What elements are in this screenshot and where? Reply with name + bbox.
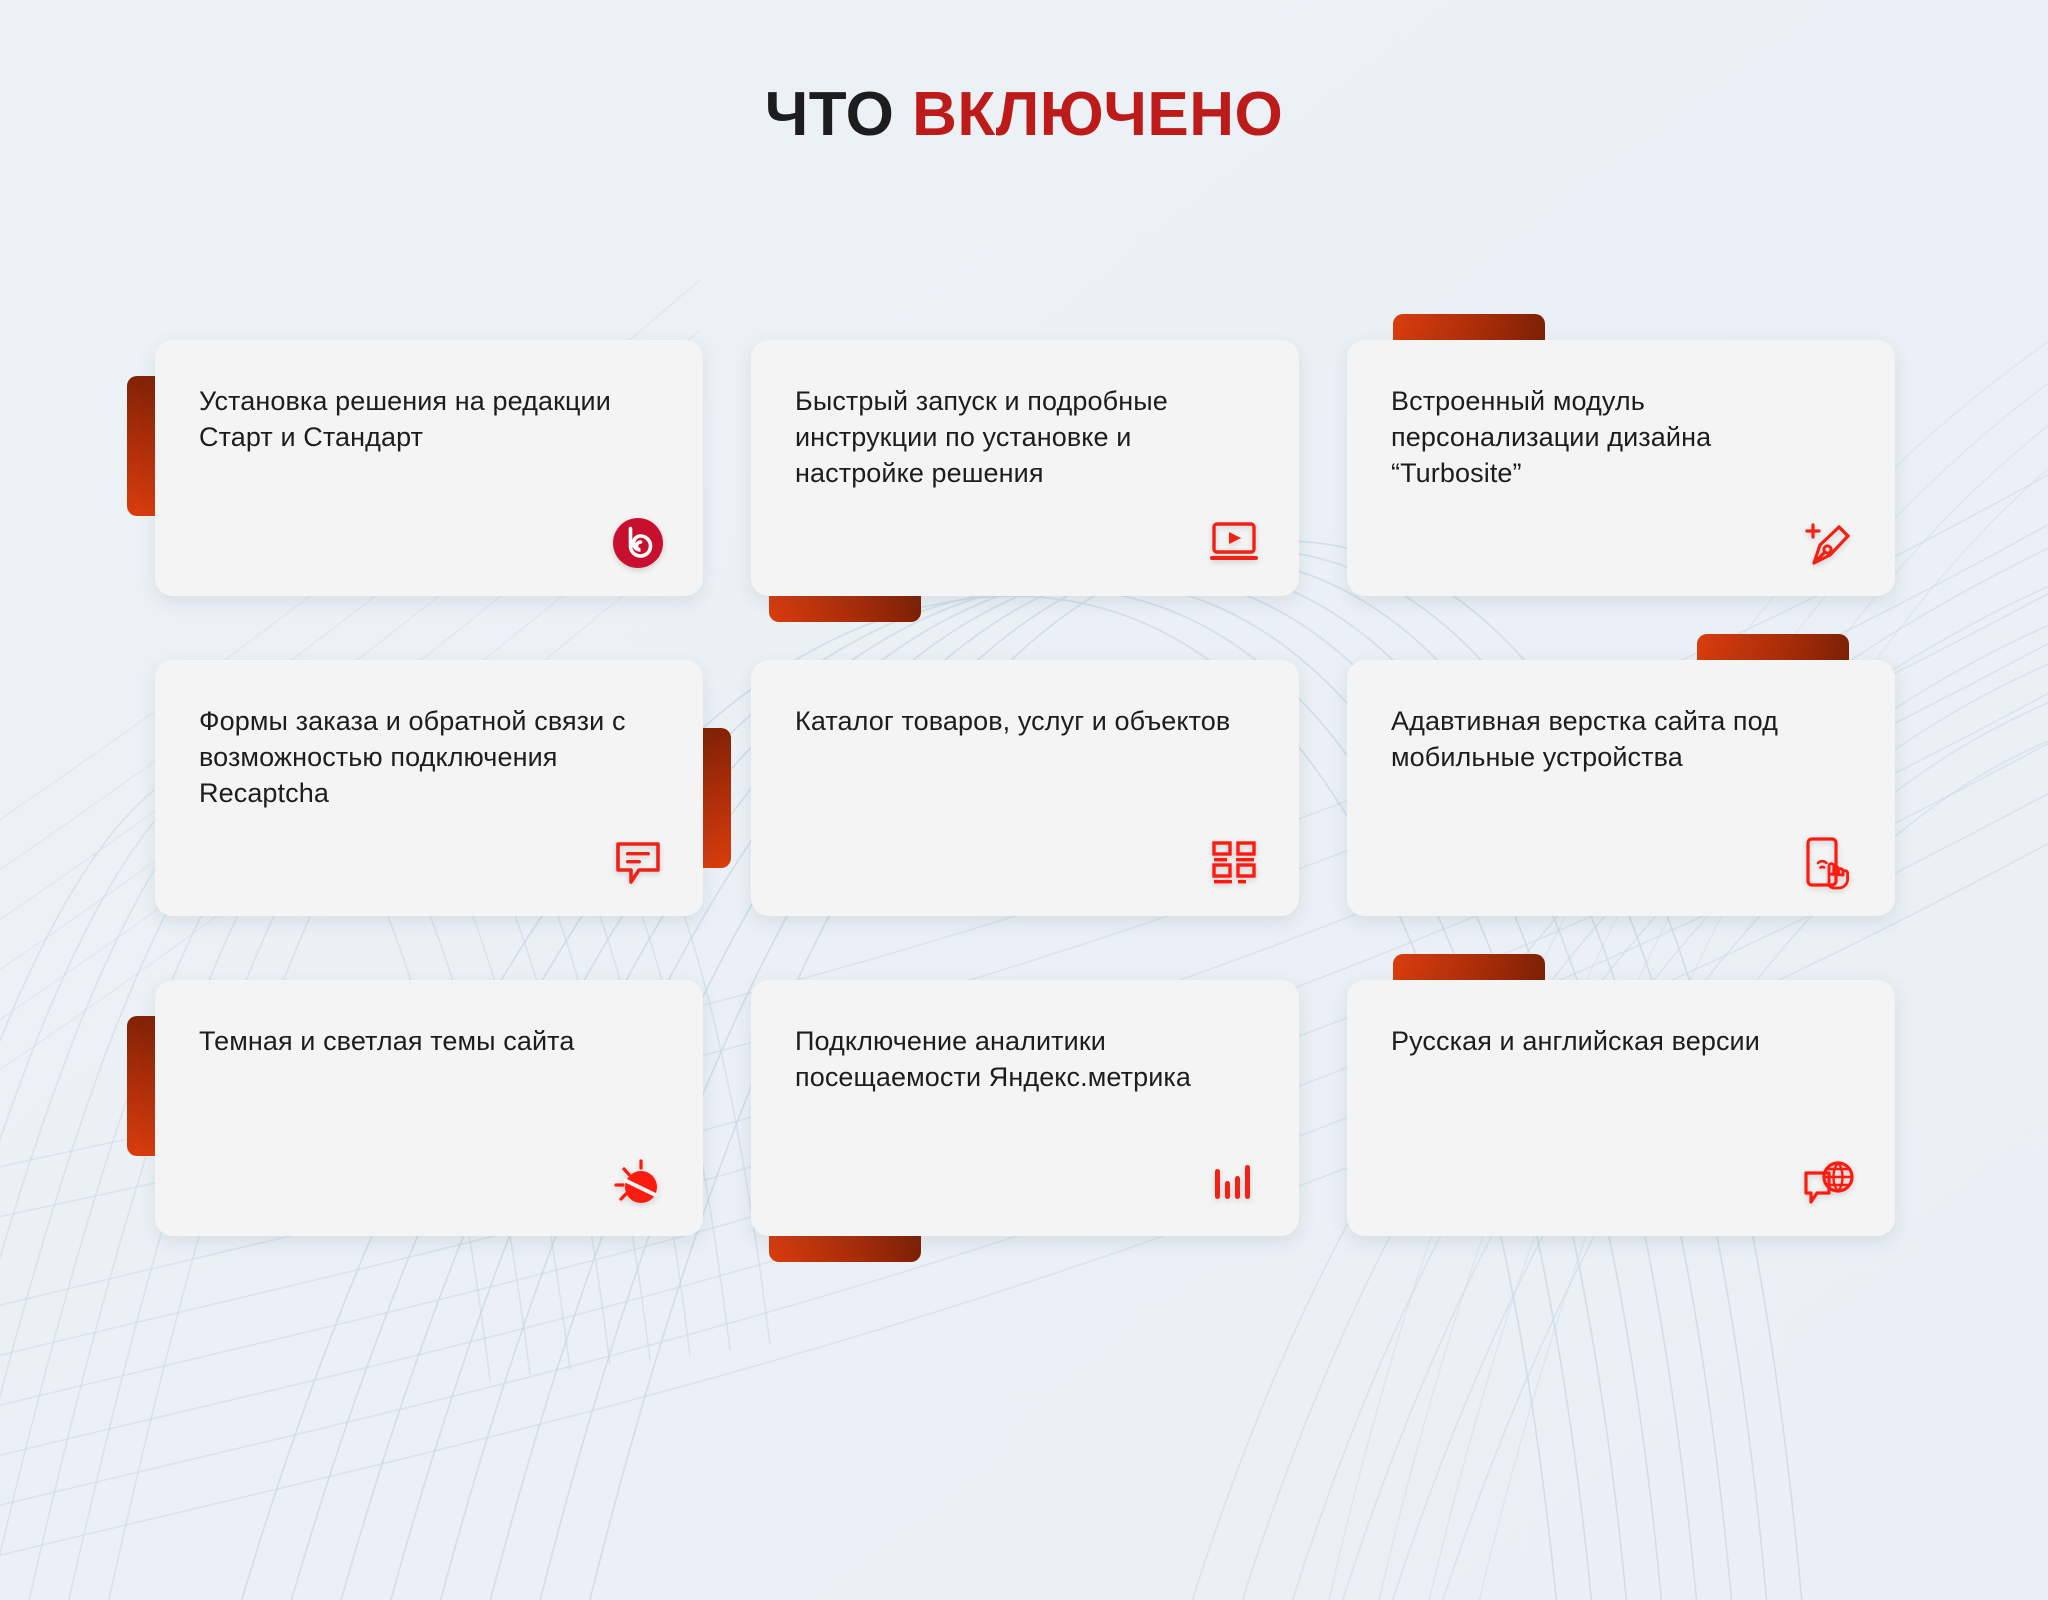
feature-card-slot: Каталог товаров, услуг и объектов (751, 660, 1299, 916)
feature-card-quick-start[interactable]: Быстрый запуск и подробные инструкции по… (751, 340, 1299, 596)
speech-bubble-icon (609, 834, 667, 892)
feature-card-text: Встроенный модуль персонализации дизайна… (1391, 384, 1847, 492)
feature-card-adaptive[interactable]: Адавтивная верстка сайта под мобильные у… (1347, 660, 1895, 916)
feature-card-text: Русская и английская версии (1391, 1024, 1847, 1060)
feature-card-forms-recaptcha[interactable]: Формы заказа и обратной связи с возможно… (155, 660, 703, 916)
feature-card-analytics[interactable]: Подключение аналитики посещаемости Яндек… (751, 980, 1299, 1236)
page-title-part-dark: ЧТО (765, 80, 895, 149)
feature-card-slot: Быстрый запуск и подробные инструкции по… (751, 340, 1299, 596)
feature-card-slot: Формы заказа и обратной связи с возможно… (155, 660, 703, 916)
feature-card-slot: Подключение аналитики посещаемости Яндек… (751, 980, 1299, 1236)
feature-card-text: Формы заказа и обратной связи с возможно… (199, 704, 655, 812)
day-night-theme-icon (609, 1154, 667, 1212)
feature-card-turbosite[interactable]: Встроенный модуль персонализации дизайна… (1347, 340, 1895, 596)
feature-card-text: Темная и светлая темы сайта (199, 1024, 655, 1060)
feature-card-slot: Адавтивная верстка сайта под мобильные у… (1347, 660, 1895, 916)
video-tutorial-icon (1205, 514, 1263, 572)
page-header: ЧТО ВКЛЮЧЕНО (0, 84, 2048, 146)
feature-card-catalog[interactable]: Каталог товаров, услуг и объектов (751, 660, 1299, 916)
catalog-grid-icon (1205, 834, 1263, 892)
feature-card-slot: Темная и светлая темы сайта (155, 980, 703, 1236)
page-title-part-red: ВКЛЮЧЕНО (912, 80, 1283, 149)
page-title: ЧТО ВКЛЮЧЕНО (0, 84, 2048, 146)
feature-card-text: Адавтивная верстка сайта под мобильные у… (1391, 704, 1847, 776)
feature-card-slot: Встроенный модуль персонализации дизайна… (1347, 340, 1895, 596)
feature-card-text: Подключение аналитики посещаемости Яндек… (795, 1024, 1251, 1096)
feature-card-text: Быстрый запуск и подробные инструкции по… (795, 384, 1251, 492)
bitrix24-logo-icon (609, 514, 667, 572)
feature-card-text: Установка решения на редакции Старт и Ст… (199, 384, 655, 456)
pen-nib-plus-icon (1801, 514, 1859, 572)
globe-language-icon (1801, 1154, 1859, 1212)
bar-chart-icon (1205, 1154, 1263, 1212)
feature-card-install[interactable]: Установка решения на редакции Старт и Ст… (155, 340, 703, 596)
feature-card-grid: Установка решения на редакции Старт и Ст… (155, 340, 1895, 1236)
feature-card-languages[interactable]: Русская и английская версии (1347, 980, 1895, 1236)
feature-card-slot: Установка решения на редакции Старт и Ст… (155, 340, 703, 596)
feature-card-slot: Русская и английская версии (1347, 980, 1895, 1236)
mobile-touch-icon (1801, 834, 1859, 892)
feature-card-themes[interactable]: Темная и светлая темы сайта (155, 980, 703, 1236)
feature-card-text: Каталог товаров, услуг и объектов (795, 704, 1251, 740)
